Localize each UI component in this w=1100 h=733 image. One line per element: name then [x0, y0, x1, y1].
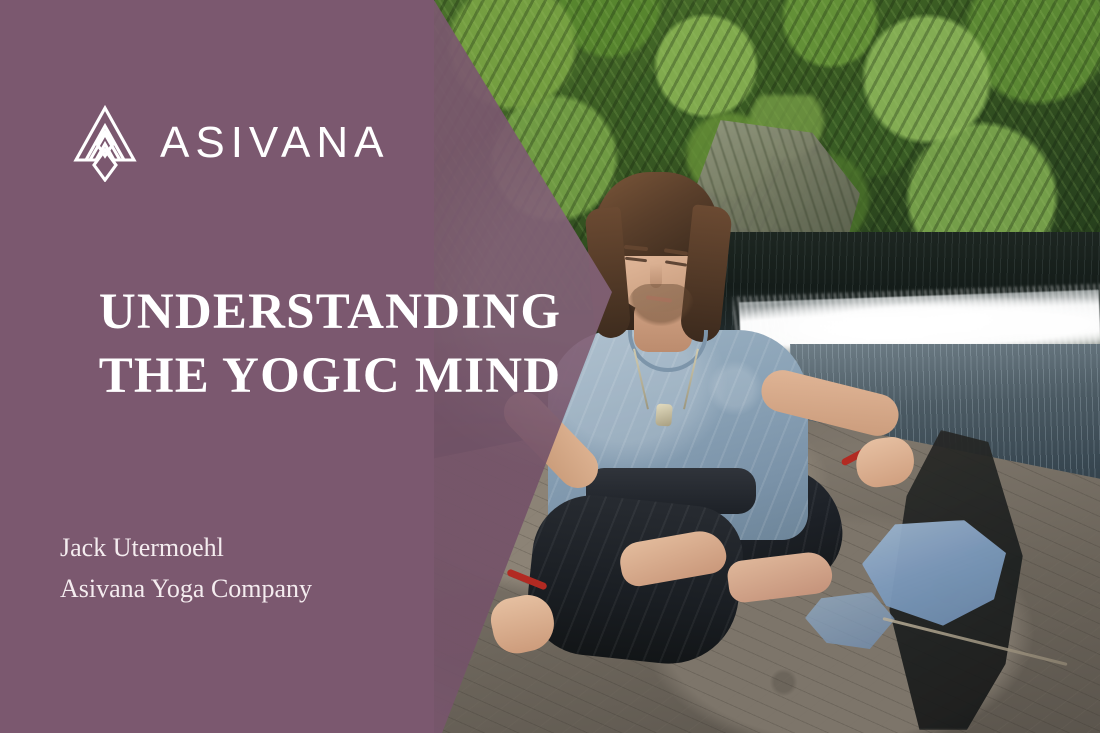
slide-content: ASIVANA UNDERSTANDING THE YOGIC MIND Jac…: [0, 0, 600, 733]
shirt-graphic-print: [700, 360, 770, 416]
presentation-slide: ASIVANA UNDERSTANDING THE YOGIC MIND Jac…: [0, 0, 1100, 733]
title-line-2: THE YOGIC MIND: [70, 344, 590, 408]
page-title: UNDERSTANDING THE YOGIC MIND: [70, 280, 590, 409]
figure-beard: [628, 284, 694, 326]
brand-lockup: ASIVANA: [72, 104, 389, 182]
figure-right-hand: [853, 434, 917, 490]
title-line-1: UNDERSTANDING: [70, 280, 590, 344]
asivana-wordmark: ASIVANA: [160, 121, 389, 165]
byline-organization: Asivana Yoga Company: [60, 569, 312, 610]
asivana-arrowhead-diamond-icon: [72, 104, 138, 182]
necklace-pendant: [655, 403, 672, 426]
byline: Jack Utermoehl Asivana Yoga Company: [60, 528, 312, 609]
byline-author: Jack Utermoehl: [60, 528, 312, 569]
